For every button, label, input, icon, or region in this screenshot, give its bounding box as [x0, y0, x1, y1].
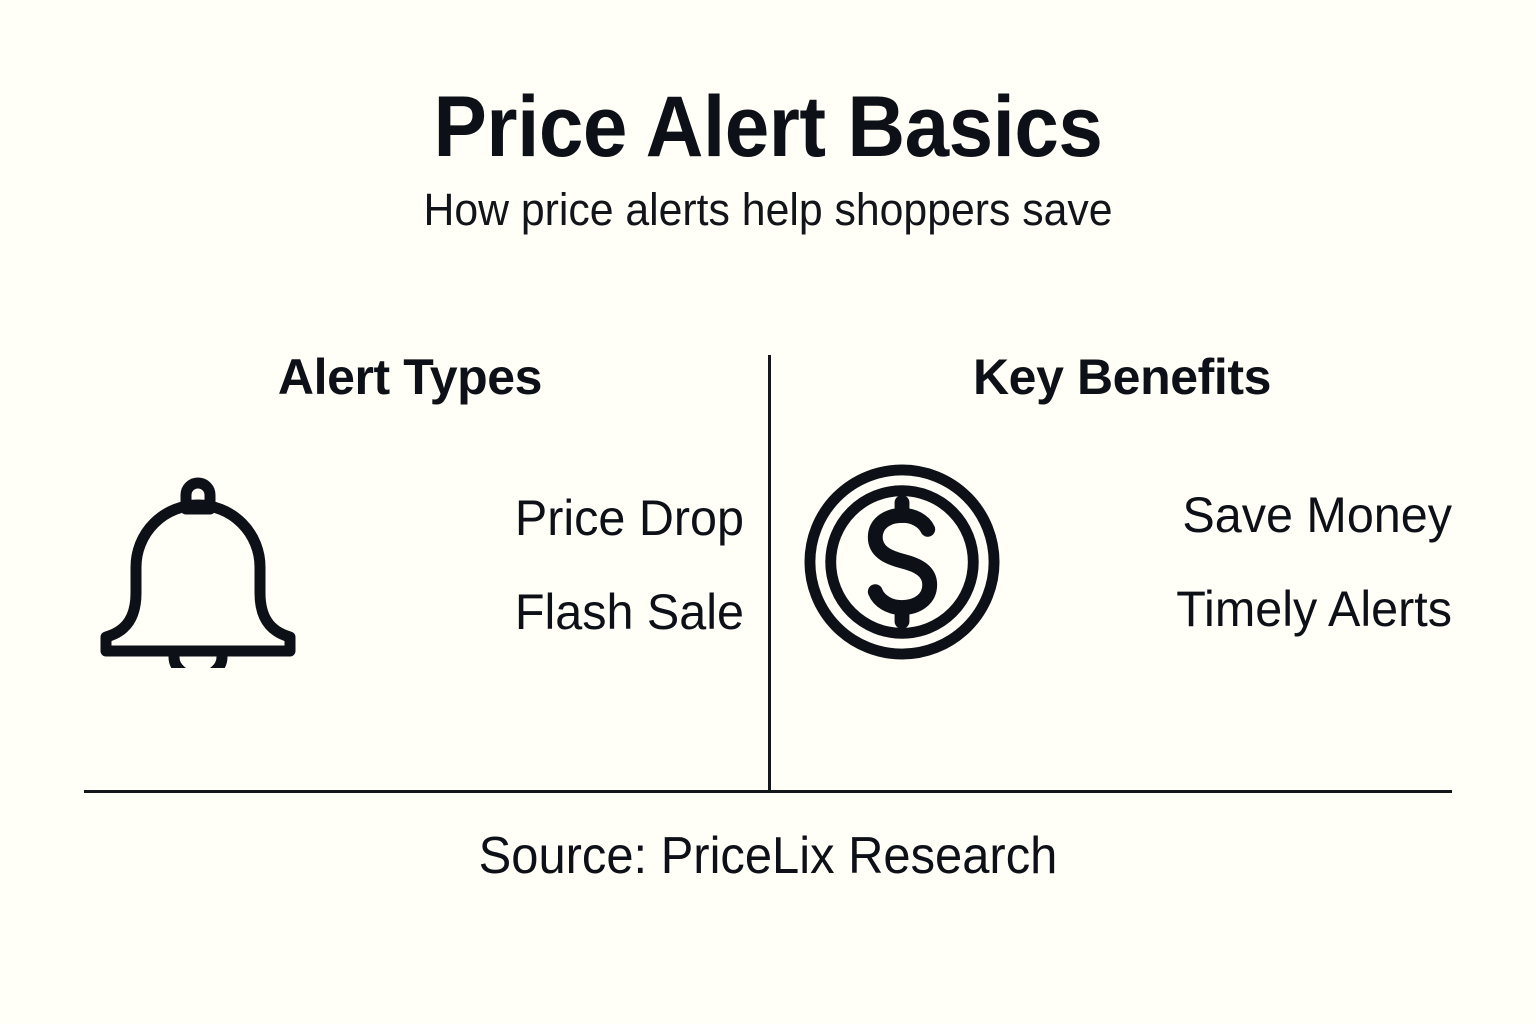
item-list-alert-types: Price Drop Flash Sale	[305, 493, 750, 637]
list-item: Timely Alerts	[1025, 584, 1452, 634]
column-body-alert-types: Price Drop Flash Sale	[84, 462, 750, 668]
header-block: Price Alert Basics How price alerts help…	[0, 84, 1536, 233]
page-subtitle: How price alerts help shoppers save	[38, 186, 1497, 233]
column-heading-alert-types: Alert Types	[84, 352, 750, 402]
column-alert-types: Alert Types Price Drop Flash Sale	[84, 352, 768, 792]
column-key-benefits: Key Benefits Save Money Tim	[768, 352, 1452, 792]
list-item: Save Money	[1025, 490, 1452, 540]
column-heading-key-benefits: Key Benefits	[786, 352, 1452, 402]
columns-container: Alert Types Price Drop Flash Sale	[84, 352, 1452, 792]
bell-icon	[90, 462, 305, 668]
coin-dollar-icon	[792, 462, 1012, 662]
list-item: Price Drop	[318, 493, 744, 543]
list-item: Flash Sale	[318, 587, 744, 637]
page-title: Price Alert Basics	[54, 84, 1482, 172]
source-caption: Source: PriceLix Research	[46, 828, 1490, 885]
footer-divider	[84, 790, 1452, 793]
column-body-key-benefits: Save Money Timely Alerts	[786, 462, 1452, 662]
item-list-key-benefits: Save Money Timely Alerts	[1012, 490, 1452, 634]
infographic-canvas: Price Alert Basics How price alerts help…	[0, 0, 1536, 1024]
